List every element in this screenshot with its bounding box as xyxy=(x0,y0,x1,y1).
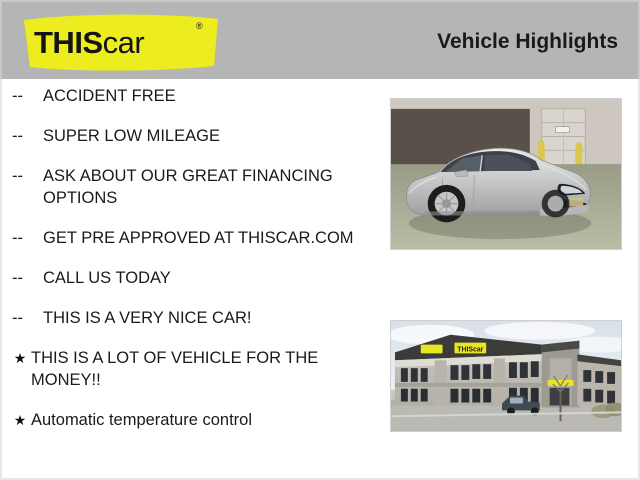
dash-bullet-icon: -- xyxy=(12,125,28,147)
list-item-label: THIS IS A VERY NICE CAR! xyxy=(28,307,380,329)
page-title: Vehicle Highlights xyxy=(437,29,618,55)
logo-word-car: car xyxy=(103,25,145,60)
dash-bullet-icon: -- xyxy=(12,227,28,249)
list-item: ★ THIS IS A LOT OF VEHICLE FOR THE MONEY… xyxy=(12,347,380,391)
svg-text:THIScar: THIScar xyxy=(457,346,483,353)
page-header: THIScar ® Vehicle Highlights xyxy=(0,0,640,79)
list-item-label: ACCIDENT FREE xyxy=(28,85,380,107)
star-bullet-icon: ★ xyxy=(12,347,28,369)
dealership-photo[interactable]: THIScar xyxy=(390,320,622,432)
list-item: -- THIS IS A VERY NICE CAR! xyxy=(12,307,380,329)
star-bullet-icon: ★ xyxy=(12,409,28,431)
list-item: -- ACCIDENT FREE xyxy=(12,85,380,107)
list-item-label: THIS IS A LOT OF VEHICLE FOR THE MONEY!! xyxy=(28,347,380,391)
vehicle-photo[interactable] xyxy=(390,98,622,250)
list-item-label: GET PRE APPROVED AT THISCAR.COM xyxy=(28,227,380,249)
page-content: -- ACCIDENT FREE -- SUPER LOW MILEAGE --… xyxy=(0,79,640,480)
logo-word-this: THIS xyxy=(34,25,103,60)
registered-trademark-icon: ® xyxy=(196,22,203,31)
highlights-list: -- ACCIDENT FREE -- SUPER LOW MILEAGE --… xyxy=(12,85,380,449)
thiscar-logo[interactable]: THIScar ® xyxy=(18,10,226,74)
list-item: -- ASK ABOUT OUR GREAT FINANCING OPTIONS xyxy=(12,165,380,209)
dash-bullet-icon: -- xyxy=(12,85,28,107)
list-item-label: Automatic temperature control xyxy=(28,409,380,431)
logo-wordmark: THIScar xyxy=(34,26,210,60)
dash-bullet-icon: -- xyxy=(12,267,28,289)
list-item-label: SUPER LOW MILEAGE xyxy=(28,125,380,147)
list-item: -- CALL US TODAY xyxy=(12,267,380,289)
vehicle-highlights-page: THIScar ® Vehicle Highlights -- ACCIDENT… xyxy=(0,0,640,480)
list-item: ★ Automatic temperature control xyxy=(12,409,380,431)
list-item: -- GET PRE APPROVED AT THISCAR.COM xyxy=(12,227,380,249)
list-item-label: ASK ABOUT OUR GREAT FINANCING OPTIONS xyxy=(28,165,380,209)
dash-bullet-icon: -- xyxy=(12,165,28,187)
list-item-label: CALL US TODAY xyxy=(28,267,380,289)
dash-bullet-icon: -- xyxy=(12,307,28,329)
list-item: -- SUPER LOW MILEAGE xyxy=(12,125,380,147)
